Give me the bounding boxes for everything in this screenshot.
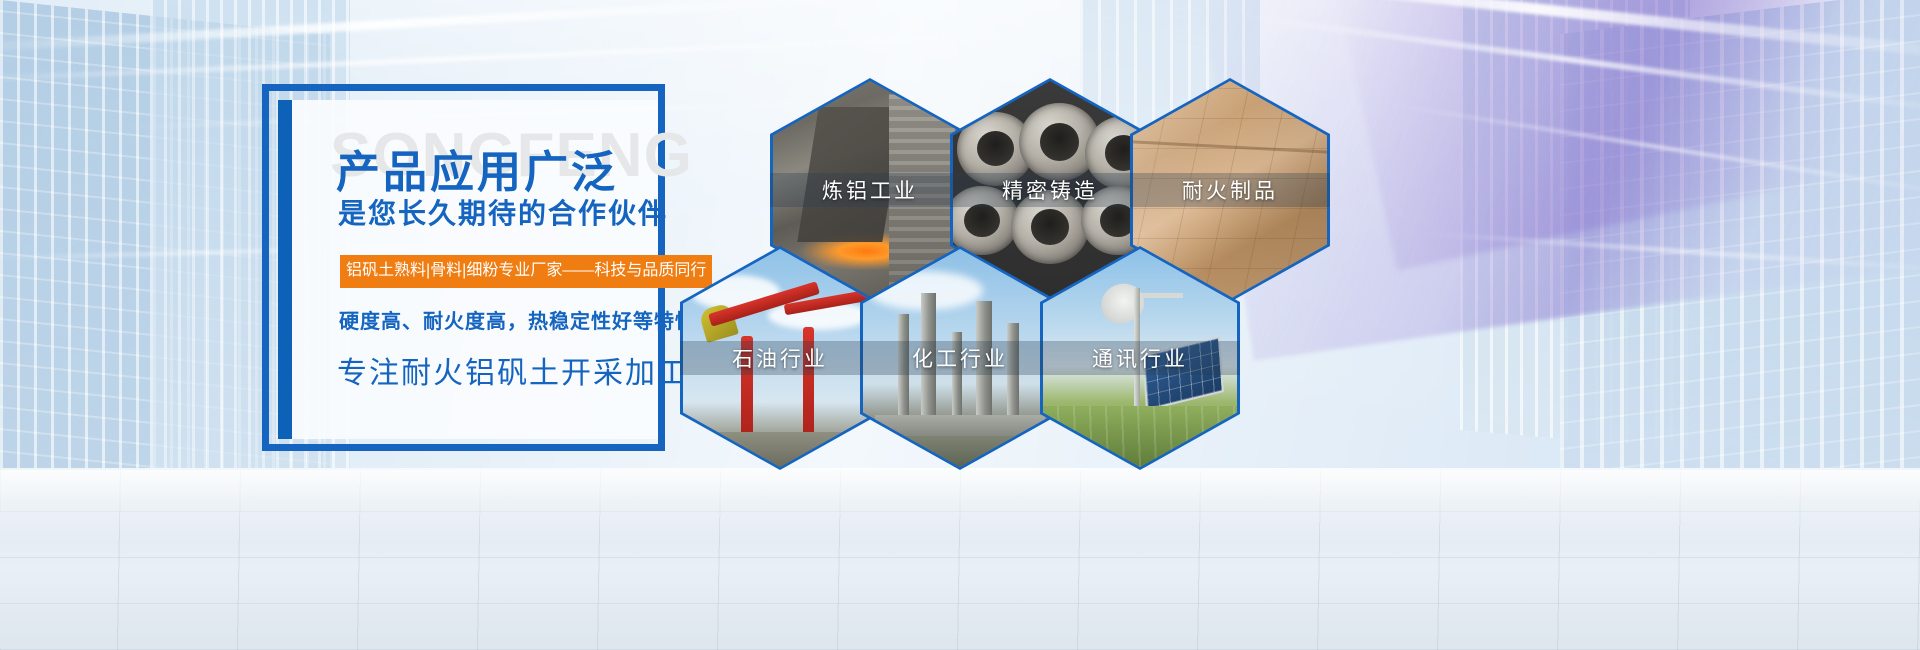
tagline-text: 专注耐火铝矾土开采加工 <box>337 348 689 392</box>
highlight-badge: 铝矾土熟料|骨料|细粉专业厂家——科技与品质同行 <box>340 255 712 288</box>
hexagon-label: 通讯行业 <box>1040 343 1240 373</box>
subtitle: 是您长久期待的合作伙伴 <box>338 192 668 232</box>
hexagon-label: 石油行业 <box>680 343 880 373</box>
hexagon-label: 精密铸造 <box>950 175 1150 205</box>
industry-hexagon-grid: 炼铝工业 精密铸造 耐火制品 石油行业 <box>660 78 1360 468</box>
feature-text: 硬度高、耐火度高，热稳定性好等特性 <box>339 305 696 334</box>
page-title: 产品应用广泛 <box>336 136 618 200</box>
hexagon-label: 化工行业 <box>860 343 1060 373</box>
floor-reflection <box>0 468 1920 542</box>
hexagon-label: 耐火制品 <box>1130 175 1330 205</box>
hexagon-label: 炼铝工业 <box>770 175 970 205</box>
tiled-floor <box>0 468 1920 650</box>
